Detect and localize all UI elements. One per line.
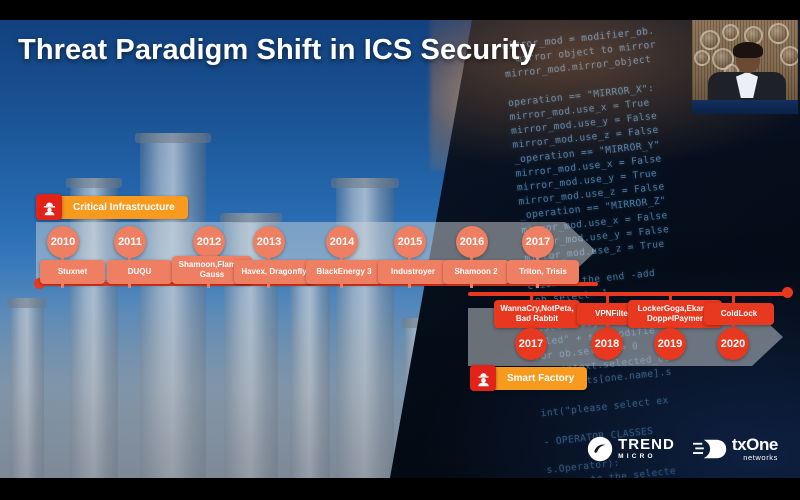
year-bubble: 2015	[394, 226, 426, 258]
trend-micro-sub: MICRO	[618, 454, 675, 461]
event-label: Havex, Dragonfly	[234, 260, 314, 284]
year-bubble: 2010	[47, 226, 79, 258]
event-label: DUQU	[107, 260, 172, 284]
event-label: Industroyer	[378, 260, 448, 284]
hardhat-worker-icon	[36, 194, 62, 220]
node-stem-lower	[408, 282, 411, 288]
year-bubble: 2018	[591, 328, 623, 360]
year-bubble: 2016	[456, 226, 488, 258]
node-stem-upper	[606, 292, 609, 304]
trend-micro-name: TREND	[618, 437, 675, 452]
segment-badge-smart-factory[interactable]: Smart Factory	[470, 365, 587, 391]
presenter-hair	[733, 42, 763, 58]
node-stem-lower	[340, 282, 343, 288]
year-bubble: 2017	[522, 226, 554, 258]
presenter-webcam-overlay[interactable]	[692, 20, 798, 114]
year-bubble: 2017	[515, 328, 547, 360]
wall-basket-icon	[722, 24, 739, 41]
webcam-lower-edge	[692, 100, 798, 114]
lower-timeline-axis	[468, 292, 788, 296]
factory-operator-icon	[470, 365, 496, 391]
year-bubble: 2013	[253, 226, 285, 258]
year-bubble: 2020	[717, 328, 749, 360]
node-stem-lower	[207, 282, 210, 288]
year-bubble: 2019	[654, 328, 686, 360]
segment-label: Smart Factory	[492, 367, 587, 390]
event-label: Stuxnet	[40, 260, 105, 284]
slide-canvas: mirror_mod = modifier_ob. mirror object …	[0, 20, 800, 478]
node-stem-upper	[732, 292, 735, 304]
txone-mark-icon	[693, 438, 727, 460]
trend-micro-mark-icon	[587, 436, 613, 462]
wall-basket-icon	[780, 46, 798, 66]
node-stem-lower	[128, 282, 131, 288]
event-label: BlackEnergy 3	[306, 260, 382, 284]
txone-name: txOne	[732, 436, 778, 453]
node-stem-lower	[470, 282, 473, 288]
letterbox-bottom	[0, 478, 800, 500]
trend-micro-logo: TREND MICRO	[587, 436, 675, 462]
letterbox-top	[0, 0, 800, 20]
node-stem-lower	[536, 282, 539, 288]
txone-logo: txOne networks	[693, 436, 778, 462]
node-stem-lower	[267, 282, 270, 288]
timeline-end-dot	[782, 287, 793, 298]
event-label: Shamoon 2	[443, 260, 509, 284]
event-label: ColdLock	[704, 303, 774, 325]
presentation-screen: mirror_mod = modifier_ob. mirror object …	[0, 0, 800, 500]
wall-basket-icon	[700, 30, 720, 50]
logo-bar: TREND MICRO txOne networks	[587, 436, 778, 462]
page-title: Threat Paradigm Shift in ICS Security	[18, 34, 536, 67]
year-bubble: 2014	[326, 226, 358, 258]
event-label: Triton, Trisis	[507, 260, 579, 284]
event-label: WannaCry,NotPeta, Bad Rabbit	[494, 300, 580, 328]
txone-sub: networks	[732, 454, 778, 462]
year-bubble: 2011	[114, 226, 146, 258]
node-stem-upper	[530, 292, 533, 302]
wall-basket-icon	[768, 23, 789, 44]
segment-badge-critical-infrastructure[interactable]: Critical Infrastructure	[36, 194, 188, 220]
wall-basket-icon	[694, 50, 710, 66]
node-stem-upper	[669, 292, 672, 302]
segment-label: Critical Infrastructure	[58, 196, 188, 219]
node-stem-lower	[61, 282, 64, 288]
